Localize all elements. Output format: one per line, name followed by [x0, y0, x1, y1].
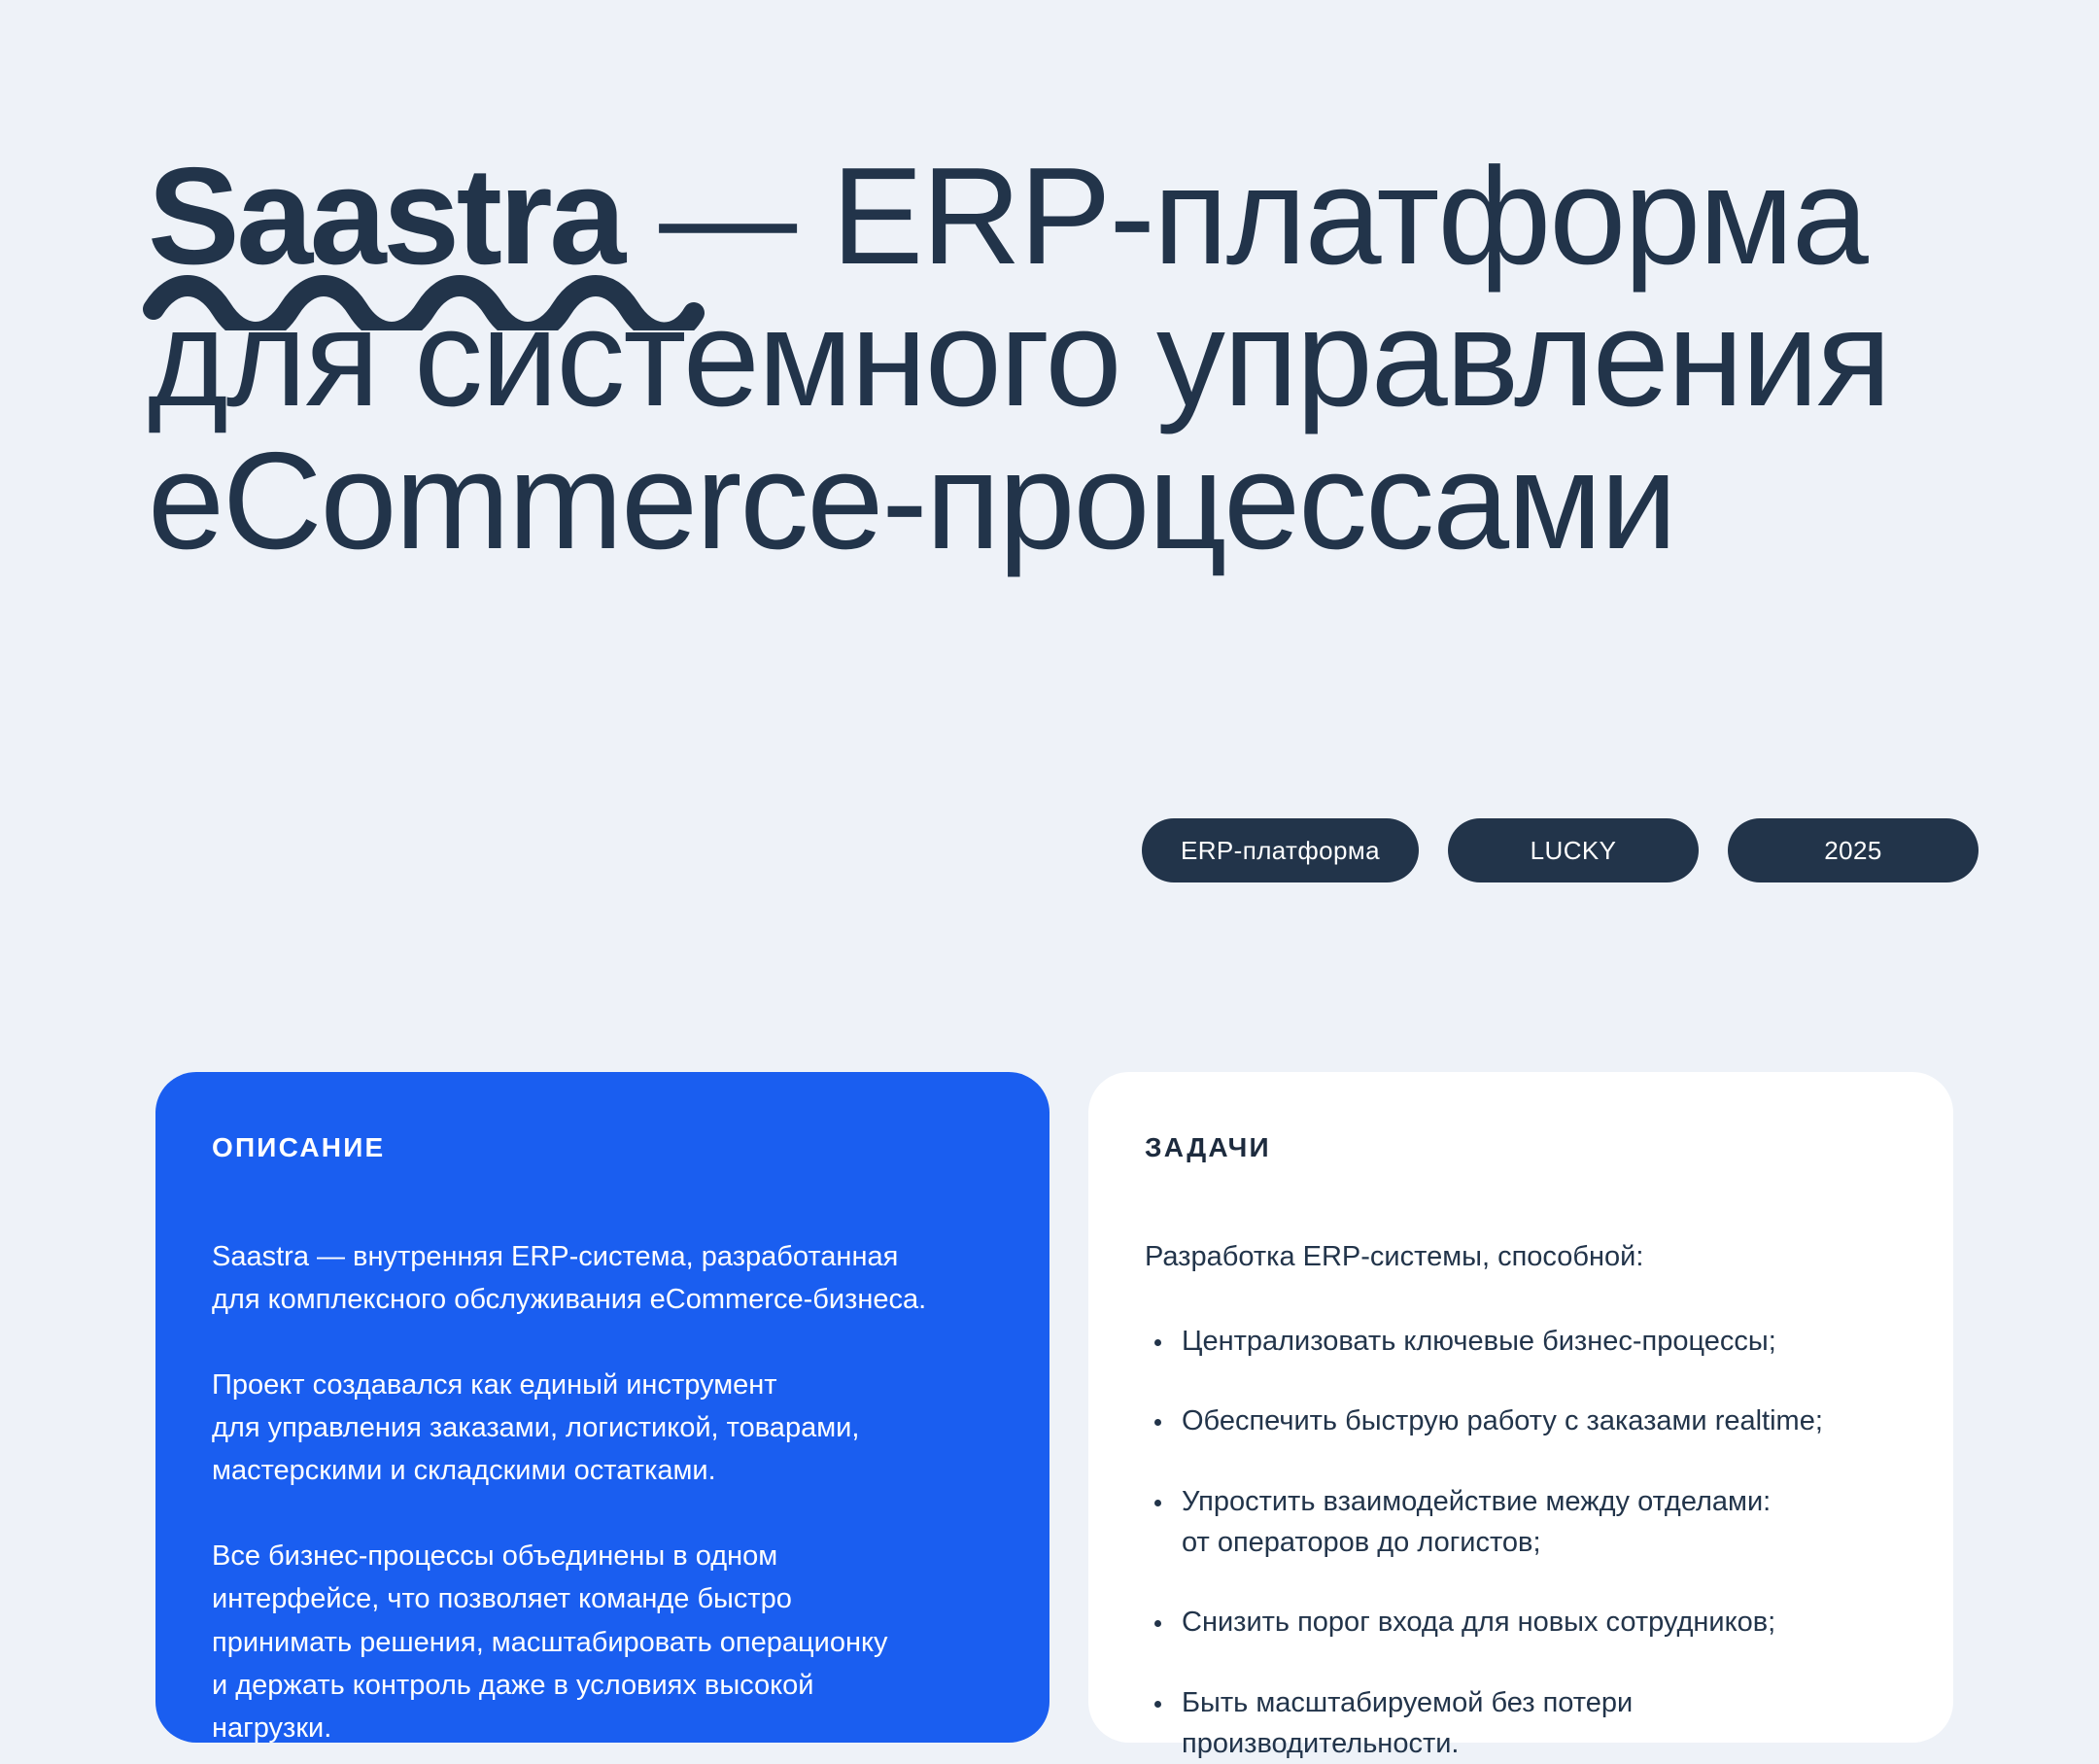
- page-title: Saastra — ERP-платформа для системного у…: [148, 146, 1994, 572]
- badge-year[interactable]: 2025: [1728, 818, 1979, 882]
- description-paragraph: Все бизнес-процессы объединены в одном и…: [212, 1535, 993, 1748]
- description-card: ОПИСАНИЕ Saastra — внутренняя ERP-систем…: [155, 1072, 1049, 1743]
- list-item: Снизить порог входа для новых сотруднико…: [1145, 1602, 1897, 1643]
- tasks-list: Централизовать ключевые бизнес-процессы;…: [1145, 1321, 1897, 1764]
- cards-section: ОПИСАНИЕ Saastra — внутренняя ERP-систем…: [0, 1072, 2099, 1752]
- description-paragraph: Saastra — внутренняя ERP-система, разраб…: [212, 1235, 993, 1321]
- list-item: Упростить взаимодействие между отделами:…: [1145, 1481, 1897, 1564]
- description-paragraph: Проект создавался как единый инструмент …: [212, 1364, 993, 1492]
- meta-badge-row: ERP-платформа LUCKY 2025: [1142, 818, 1979, 882]
- tasks-card-title: ЗАДАЧИ: [1145, 1132, 1897, 1163]
- tasks-lead-text: Разработка ERP-системы, способной:: [1145, 1235, 1897, 1278]
- description-card-title: ОПИСАНИЕ: [212, 1132, 993, 1163]
- list-item: Быть масштабируемой без потери производи…: [1145, 1682, 1897, 1764]
- brand-logotype: Saastra: [148, 146, 623, 288]
- brand-name: Saastra: [148, 139, 623, 294]
- tasks-card: ЗАДАЧИ Разработка ERP-системы, способной…: [1088, 1072, 1953, 1743]
- hero-section: Saastra — ERP-платформа для системного у…: [0, 0, 2099, 972]
- badge-erp-platform[interactable]: ERP-платформа: [1142, 818, 1419, 882]
- list-item: Централизовать ключевые бизнес-процессы;: [1145, 1321, 1897, 1362]
- badge-lucky[interactable]: LUCKY: [1448, 818, 1699, 882]
- list-item: Обеспечить быструю работу с заказами rea…: [1145, 1401, 1897, 1441]
